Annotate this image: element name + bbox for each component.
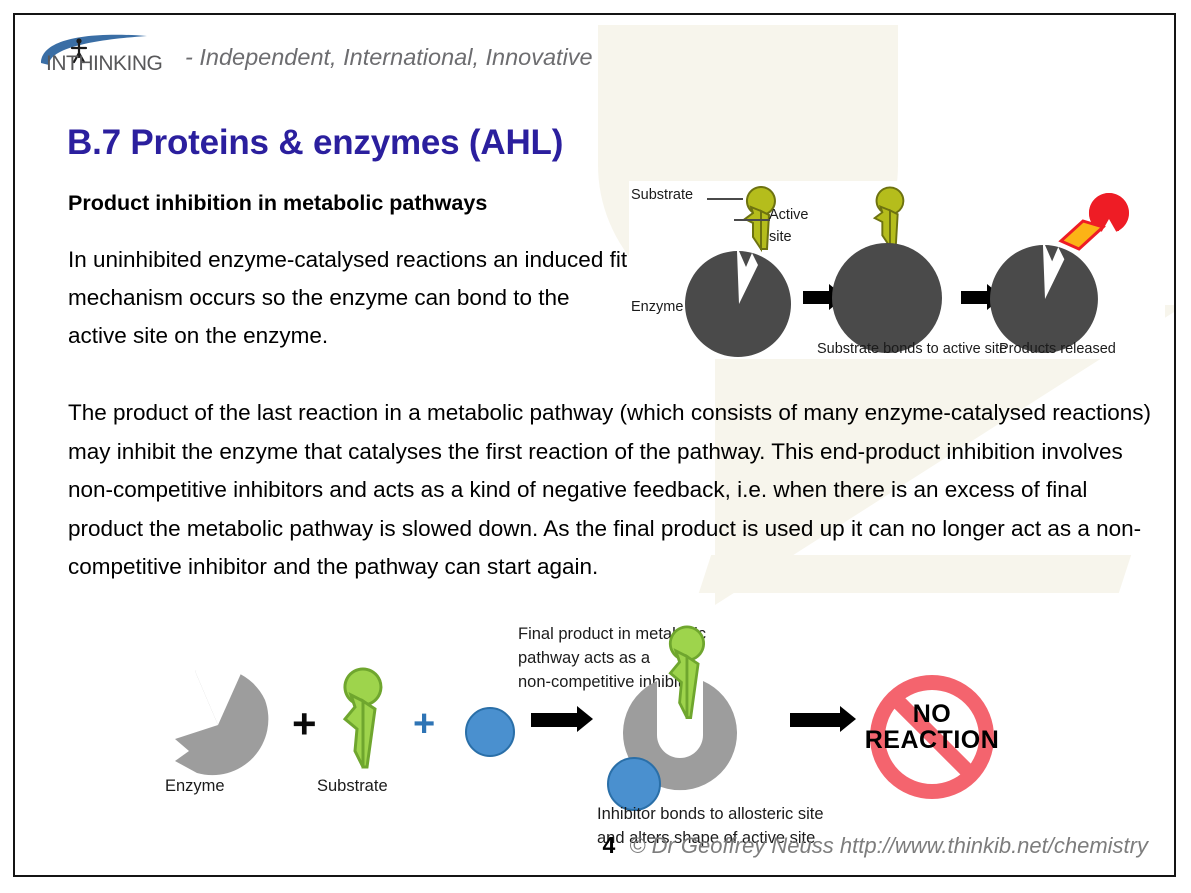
- caption-products-released: Products released: [999, 341, 1116, 357]
- plus-sign-substrate: +: [292, 703, 317, 745]
- logo-wordmark: INTHINKING: [46, 52, 162, 76]
- enzyme-shape-icon: [684, 249, 794, 359]
- caption-substrate-bonds: Substrate bonds to active site: [817, 341, 1007, 357]
- enzyme-after-release-icon: [989, 243, 1101, 355]
- page-subtitle: Product inhibition in metabolic pathways: [68, 191, 487, 216]
- page-title: B.7 Proteins & enzymes (AHL): [67, 123, 563, 163]
- leader-active-site: [734, 219, 770, 221]
- complex-caption-line-1: Inhibitor bonds to allosteric site: [597, 805, 824, 824]
- bound-inhibitor-icon: [607, 757, 661, 811]
- label-substrate-bottom: Substrate: [317, 777, 388, 796]
- label-active-site-2: site: [769, 229, 792, 245]
- inhibitor-note-line-2: pathway acts as a: [518, 649, 650, 668]
- page-number: 4: [602, 832, 615, 859]
- slide: INTHINKING - Independent, International,…: [13, 13, 1176, 877]
- free-enzyme-shape-icon: [155, 665, 281, 777]
- header: INTHINKING - Independent, International,…: [29, 29, 593, 85]
- label-active-site-1: Active: [769, 207, 809, 223]
- paragraph-intro: In uninhibited enzyme-catalysed reaction…: [68, 241, 628, 355]
- no-reaction-line-2: REACTION: [822, 727, 1042, 753]
- leader-enzyme: [692, 309, 732, 312]
- top-diagram: Substrate Active site Enzyme Substrate b…: [629, 181, 1165, 359]
- free-substrate-shape-icon: [335, 667, 391, 775]
- logo-tagline: - Independent, International, Innovative: [185, 44, 593, 71]
- inhibitor-shape-icon: [465, 707, 515, 757]
- paragraph-end-product-inhibition: The product of the last reaction in a me…: [68, 394, 1158, 587]
- no-reaction-line-1: NO: [822, 701, 1042, 727]
- label-enzyme: Enzyme: [631, 299, 683, 315]
- inthinking-logo: INTHINKING: [29, 33, 173, 81]
- footer: 4 © Dr Geoffrey Neuss http://www.thinkib…: [15, 832, 1174, 859]
- no-reaction-text: NO REACTION: [822, 701, 1042, 753]
- no-reaction-badge: NO REACTION: [870, 675, 994, 799]
- label-enzyme-bottom: Enzyme: [165, 777, 225, 796]
- plus-sign-inhibitor: +: [413, 705, 435, 743]
- credit-line: © Dr Geoffrey Neuss http://www.thinkib.n…: [629, 833, 1148, 859]
- label-substrate: Substrate: [631, 187, 693, 203]
- enzyme-substrate-complex-icon: [832, 243, 942, 353]
